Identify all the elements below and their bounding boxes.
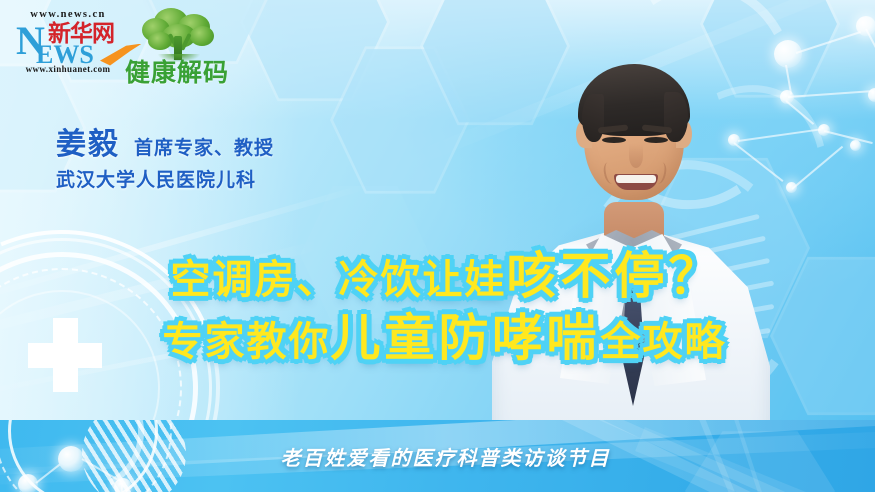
headline-segment-emphasis: 咳不停？ — [507, 248, 723, 304]
headline-line-2: 专家教你 儿童防哮喘 全攻略 — [0, 310, 875, 366]
eye-left — [602, 137, 626, 143]
tree-icon — [140, 6, 218, 62]
headline-segment: 专家教你 — [163, 318, 331, 366]
mouth — [614, 174, 658, 190]
bottom-tagline: 老百姓爱看的医疗科普类访谈节目 — [0, 420, 875, 492]
nose — [629, 144, 643, 168]
headline-segment-emphasis: 儿童防哮喘 — [331, 310, 601, 366]
headline-segment: 空调房、冷饮让娃 — [171, 256, 507, 304]
headline-segment: 全攻略 — [601, 318, 727, 366]
hair — [578, 64, 690, 136]
eye-right — [644, 137, 668, 143]
headline-block: 空调房、冷饮让娃 咳不停？ 专家教你 儿童防哮喘 全攻略 — [0, 248, 875, 366]
logo-letters-ews: EWS — [36, 42, 94, 68]
speaker-name: 姜毅 — [56, 128, 120, 162]
speaker-title: 首席专家、教授 — [134, 136, 274, 160]
xinhua-news-logo[interactable]: www.news.cn N 新华网 EWS www.xinhuanet.com — [14, 10, 122, 84]
speaker-affiliation: 武汉大学人民医院儿科 — [56, 168, 274, 192]
doctor-portrait — [486, 34, 776, 446]
program-name-text: 健康解码 — [118, 58, 236, 88]
headline-line-1: 空调房、冷饮让娃 咳不停？ — [0, 248, 875, 304]
bottom-banner: 老百姓爱看的医疗科普类访谈节目 — [0, 420, 875, 492]
health-program-logo[interactable]: 健康解码 — [118, 8, 236, 92]
poster-canvas: www.news.cn N 新华网 EWS www.xinhuanet.com … — [0, 0, 875, 492]
speaker-info: 姜毅 首席专家、教授 武汉大学人民医院儿科 — [56, 128, 274, 192]
